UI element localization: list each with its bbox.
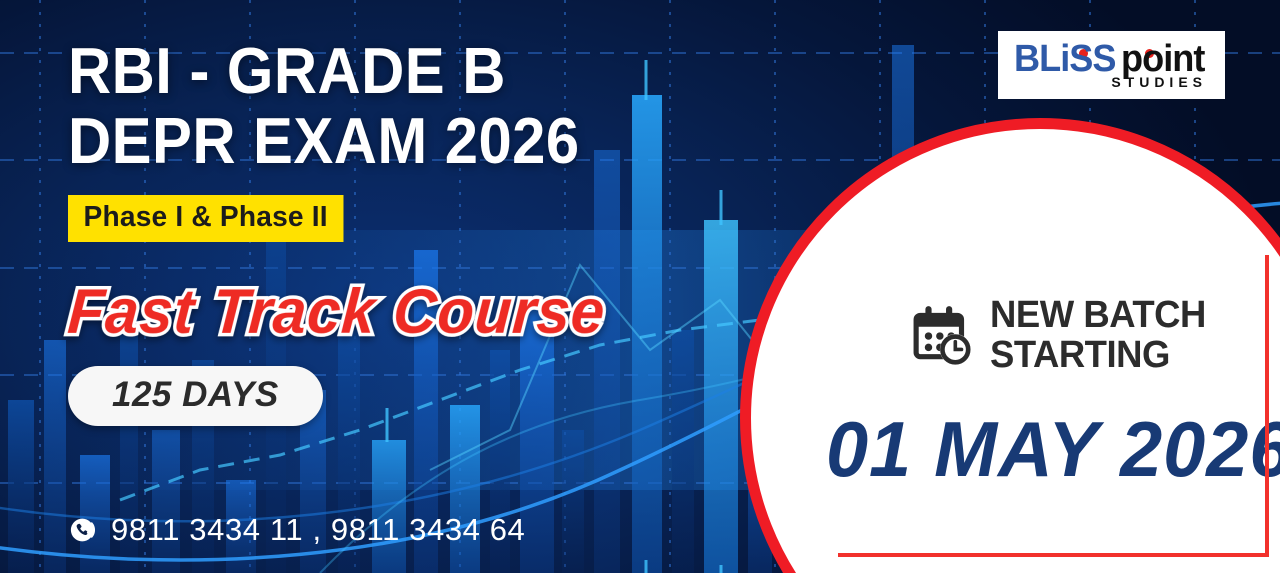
batch-heading-line-2: STARTING xyxy=(990,336,1206,374)
calendar-clock-icon xyxy=(912,304,978,366)
contact-numbers[interactable]: 9811 3434 11 , 9811 3434 64 xyxy=(111,512,525,548)
accent-line-vertical xyxy=(1265,255,1269,557)
accent-line-horizontal xyxy=(838,553,1269,557)
batch-start-date: 01 MAY 2026 xyxy=(826,404,1280,495)
phase-badge: Phase I & Phase II xyxy=(68,195,343,242)
course-duration-badge: 125 DAYS xyxy=(68,366,323,426)
brand-logo[interactable]: BLiSS point STUDIES xyxy=(998,31,1225,99)
logo-bliss-text: BLiSS xyxy=(1014,40,1116,78)
headline-line-2: DEPR EXAM 2026 xyxy=(68,110,675,172)
page-title: RBI - GRADE B DEPR EXAM 2026 xyxy=(68,40,675,173)
promo-banner: BLiSS point STUDIES RBI - GRADE B DEPR E… xyxy=(0,0,1280,573)
batch-heading-block: NEW BATCH STARTING xyxy=(912,296,1252,374)
contact-row[interactable]: 9811 3434 11 , 9811 3434 64 xyxy=(70,512,525,548)
promo-copy: RBI - GRADE B DEPR EXAM 2026 Phase I & P… xyxy=(68,40,728,426)
course-title: Fast Track Course xyxy=(66,276,698,348)
logo-point-text: point xyxy=(1121,40,1204,78)
phone-ring-icon xyxy=(70,516,98,544)
logo-wordmark: BLiSS point xyxy=(1014,40,1209,78)
batch-heading-line-1: NEW BATCH xyxy=(990,296,1206,334)
headline-line-1: RBI - GRADE B xyxy=(68,34,506,107)
